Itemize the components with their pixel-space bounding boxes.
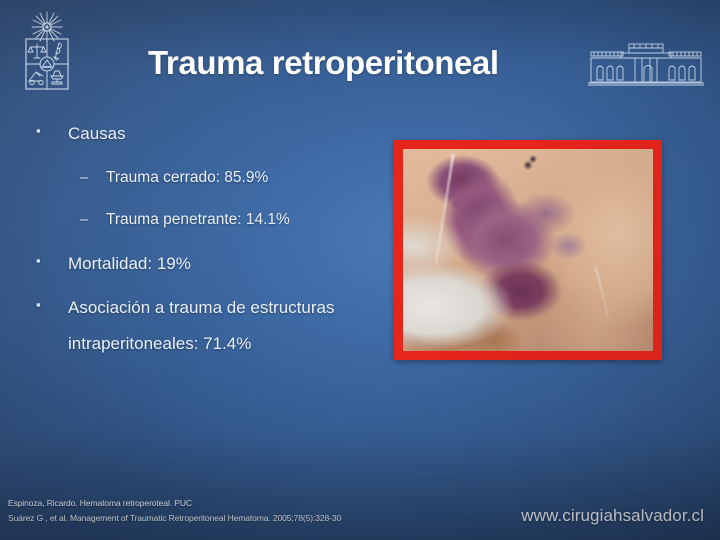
clinical-photo-frame <box>394 140 662 360</box>
list-item-label: Trauma cerrado: 85.9% <box>106 167 268 189</box>
list-item: ▪ Asociación a trauma de estructuras int… <box>36 296 386 356</box>
citation-block: Espinoza, Ricardo. Hematoma retroperotea… <box>8 496 341 526</box>
dash-marker-icon: – <box>80 167 106 189</box>
bullet-marker-icon: ▪ <box>36 252 68 271</box>
list-item-label: Asociación a trauma de estructuras intra… <box>68 296 334 356</box>
website-url: www.cirugiahsalvador.cl <box>521 506 704 526</box>
hospital-building-icon <box>588 42 704 88</box>
photo-tube-line <box>434 153 455 265</box>
list-item-label-line2: intraperitoneales: 71.4% <box>68 332 334 357</box>
presentation-slide: Trauma retroperitoneal <box>0 0 720 540</box>
list-item: – Trauma cerrado: 85.9% <box>80 167 386 189</box>
list-item: – Trauma penetrante: 14.1% <box>80 209 386 231</box>
list-item: ▪ Mortalidad: 19% <box>36 252 386 277</box>
citation-line-1: Espinoza, Ricardo. Hematoma retroperotea… <box>8 496 341 511</box>
list-item-label-line1: Asociación a trauma de estructuras <box>68 298 334 317</box>
bullet-marker-icon: ▪ <box>36 296 68 315</box>
photo-tube-line-secondary <box>594 267 609 318</box>
bullet-list: ▪ Causas – Trauma cerrado: 85.9% – Traum… <box>36 122 386 377</box>
bullet-marker-icon: ▪ <box>36 122 68 141</box>
citation-line-2: Suárez G , et al. Management of Traumati… <box>8 511 341 526</box>
universidad-de-chile-crest-icon <box>16 9 78 97</box>
clinical-photo-flank-ecchymosis <box>403 149 653 351</box>
list-item: ▪ Causas <box>36 122 386 147</box>
list-item-label: Causas <box>68 122 126 147</box>
list-item-label: Mortalidad: 19% <box>68 252 191 277</box>
page-title: Trauma retroperitoneal <box>148 44 499 82</box>
list-item-label: Trauma penetrante: 14.1% <box>106 209 290 231</box>
dash-marker-icon: – <box>80 209 106 231</box>
